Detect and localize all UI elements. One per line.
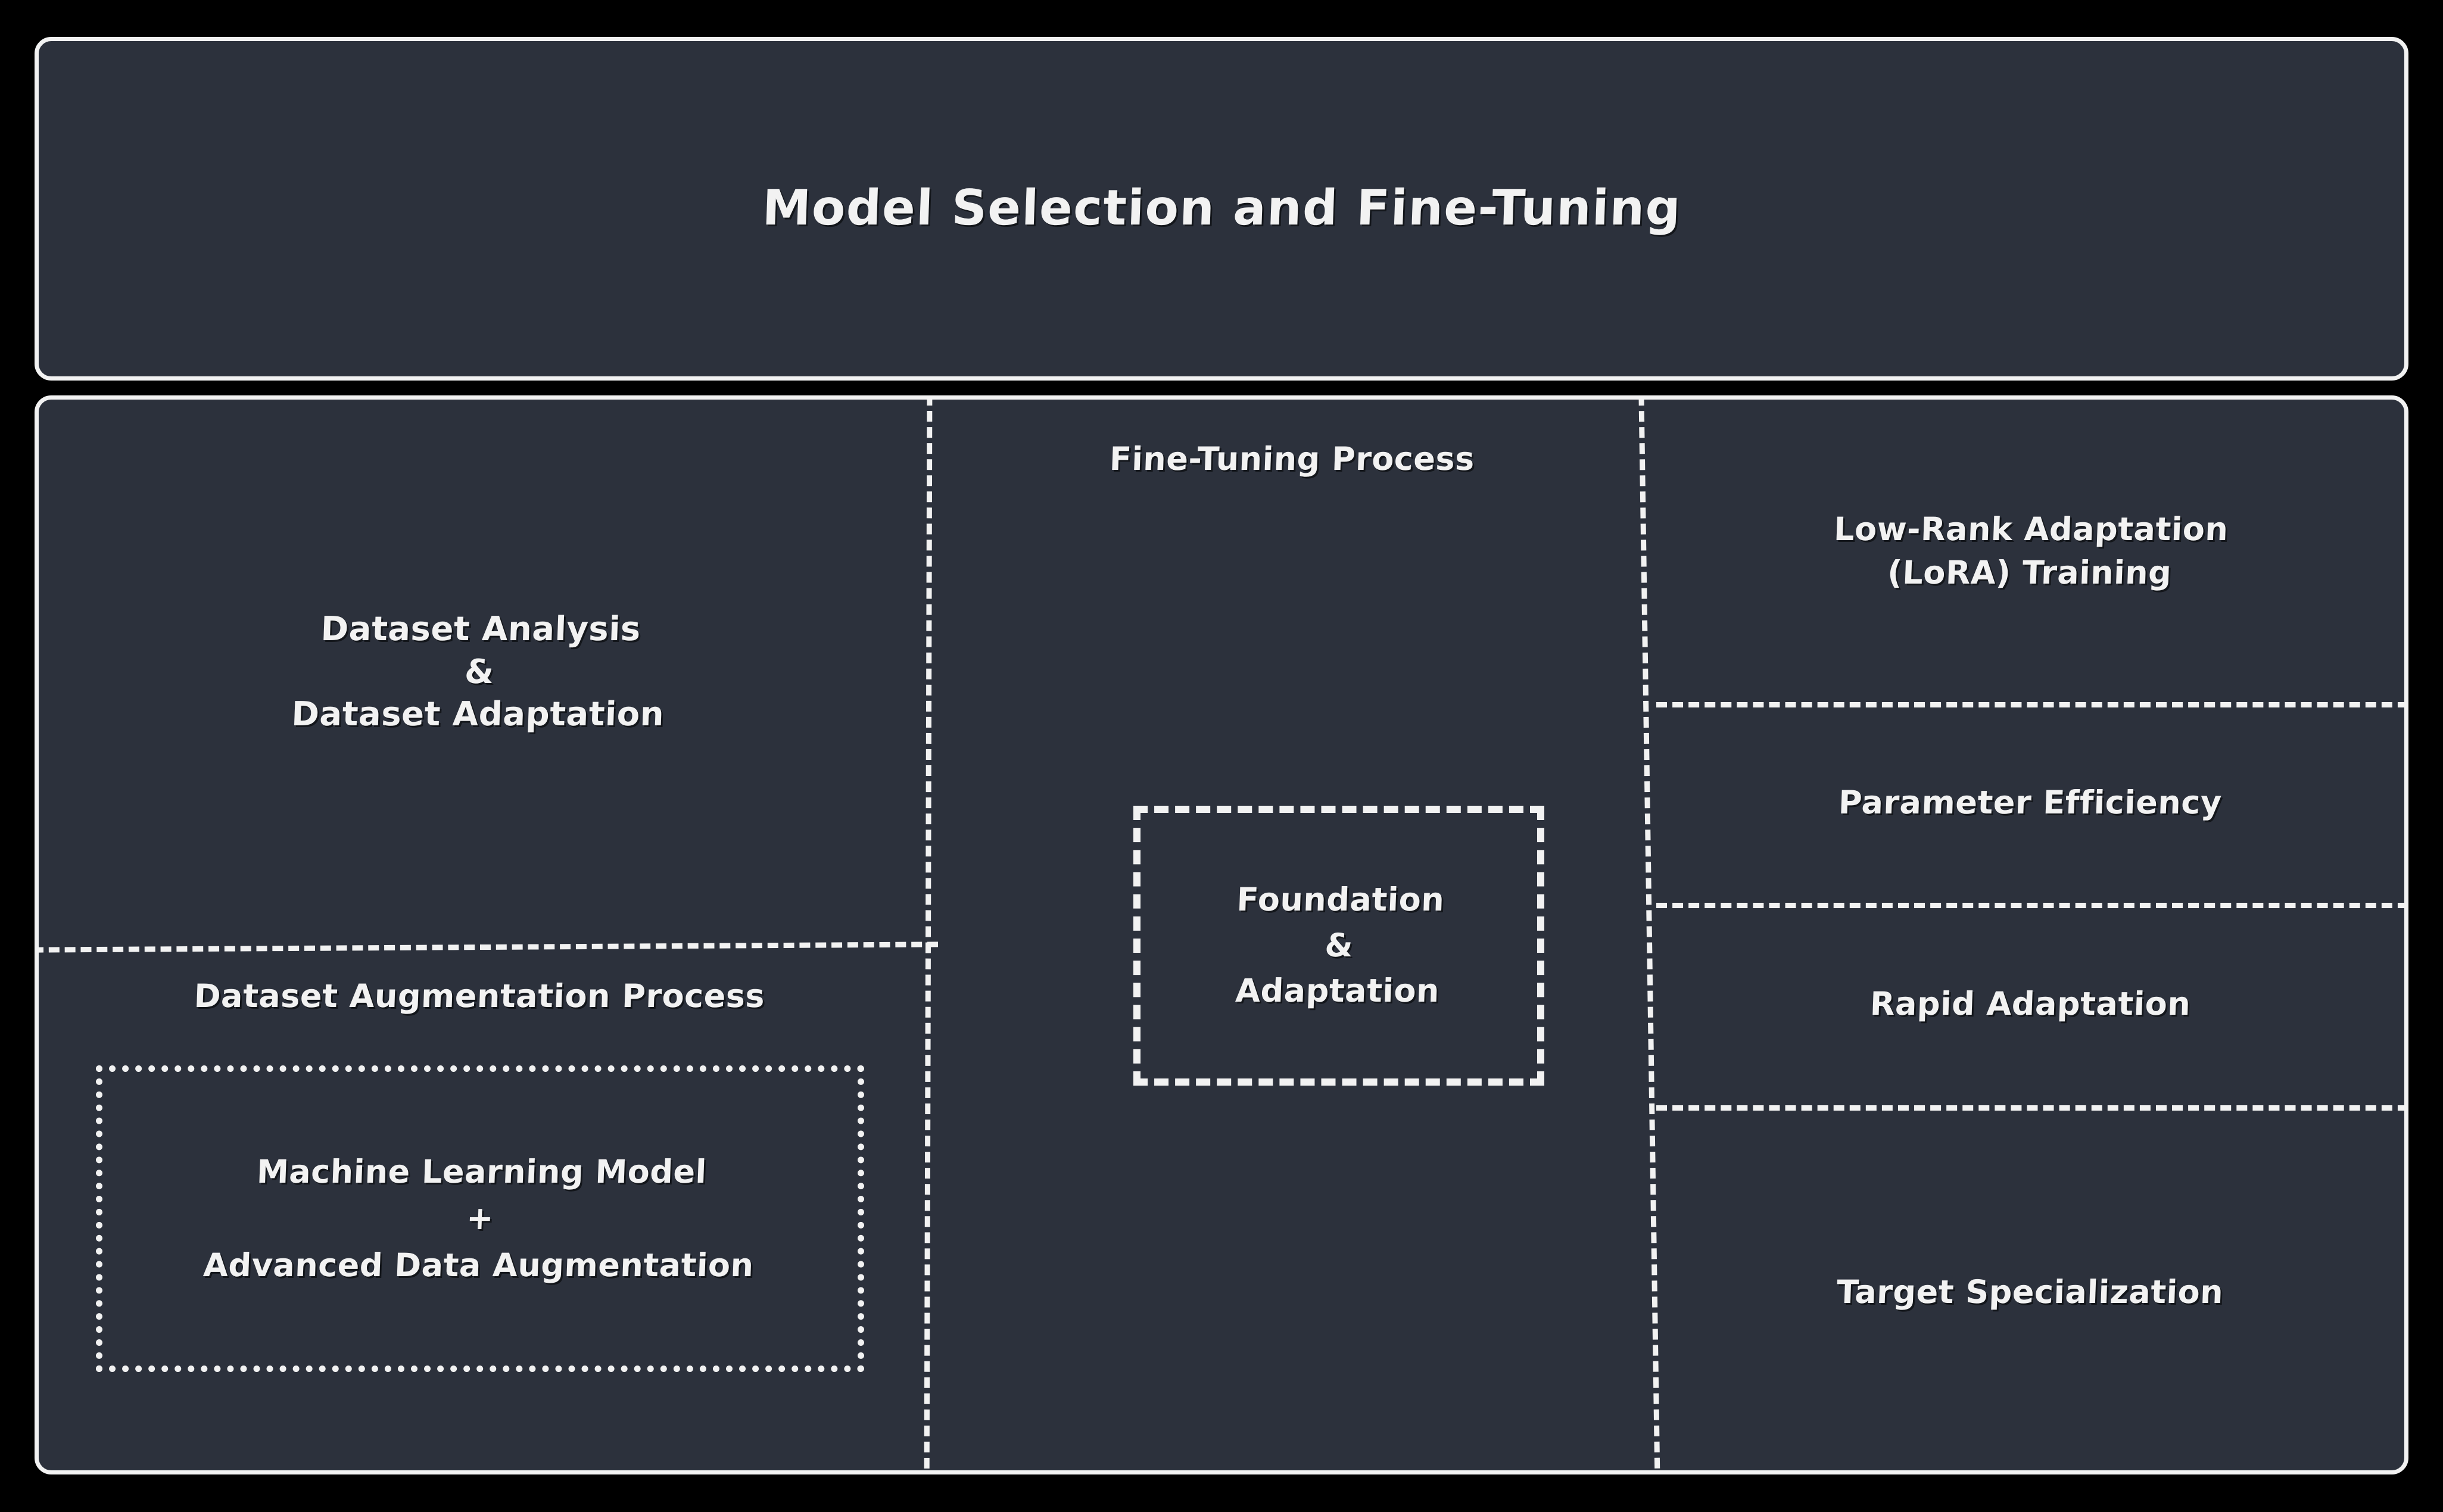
- divider-right-column-2: [1656, 903, 2408, 908]
- title-card: Model Selection and Fine-Tuning: [35, 37, 2408, 381]
- cell-rapid-adaptation: Rapid Adaptation: [1656, 903, 2404, 1105]
- lora-training-label: Low-Rank Adaptation(LoRA) Training: [1831, 507, 2229, 595]
- target-specialization-label: Target Specialization: [1836, 1270, 2224, 1314]
- column-middle: Fine-Tuning Process Foundation&Adaptatio…: [934, 400, 1650, 1470]
- page-title: Model Selection and Fine-Tuning: [761, 177, 1682, 240]
- column-right: Low-Rank Adaptation(LoRA) Training Param…: [1656, 400, 2404, 1470]
- dataset-augmentation-heading: Dataset Augmentation Process: [38, 975, 921, 1017]
- cell-target-specialization: Target Specialization: [1656, 1105, 2404, 1474]
- dataset-analysis-label: Dataset Analysis&Dataset Adaptation: [291, 608, 668, 736]
- rapid-adaptation-label: Rapid Adaptation: [1869, 982, 2192, 1025]
- cell-dataset-analysis: Dataset Analysis&Dataset Adaptation: [39, 400, 920, 944]
- column-left: Dataset Analysis&Dataset Adaptation Data…: [39, 400, 926, 1470]
- diagram-body-card: Dataset Analysis&Dataset Adaptation Data…: [35, 395, 2408, 1474]
- cell-lora-training: Low-Rank Adaptation(LoRA) Training: [1656, 400, 2404, 702]
- augmentation-inner-box: Machine Learning Model+Advanced Data Aug…: [96, 1065, 864, 1372]
- cell-dataset-augmentation: Dataset Augmentation Process Machine Lea…: [39, 950, 920, 1474]
- parameter-efficiency-label: Parameter Efficiency: [1838, 781, 2223, 824]
- augmentation-inner-label: Machine Learning Model+Advanced Data Aug…: [202, 1149, 758, 1289]
- divider-right-column-1: [1656, 702, 2408, 707]
- cell-parameter-efficiency: Parameter Efficiency: [1656, 702, 2404, 903]
- fine-tuning-process-heading: Fine-Tuning Process: [1109, 438, 1475, 479]
- foundation-adaptation-label: Foundation&Adaptation: [1233, 877, 1445, 1014]
- divider-right-column-3: [1656, 1105, 2408, 1111]
- foundation-adaptation-box: Foundation&Adaptation: [1133, 806, 1544, 1086]
- cell-fine-tuning-heading: Fine-Tuning Process: [934, 400, 1650, 519]
